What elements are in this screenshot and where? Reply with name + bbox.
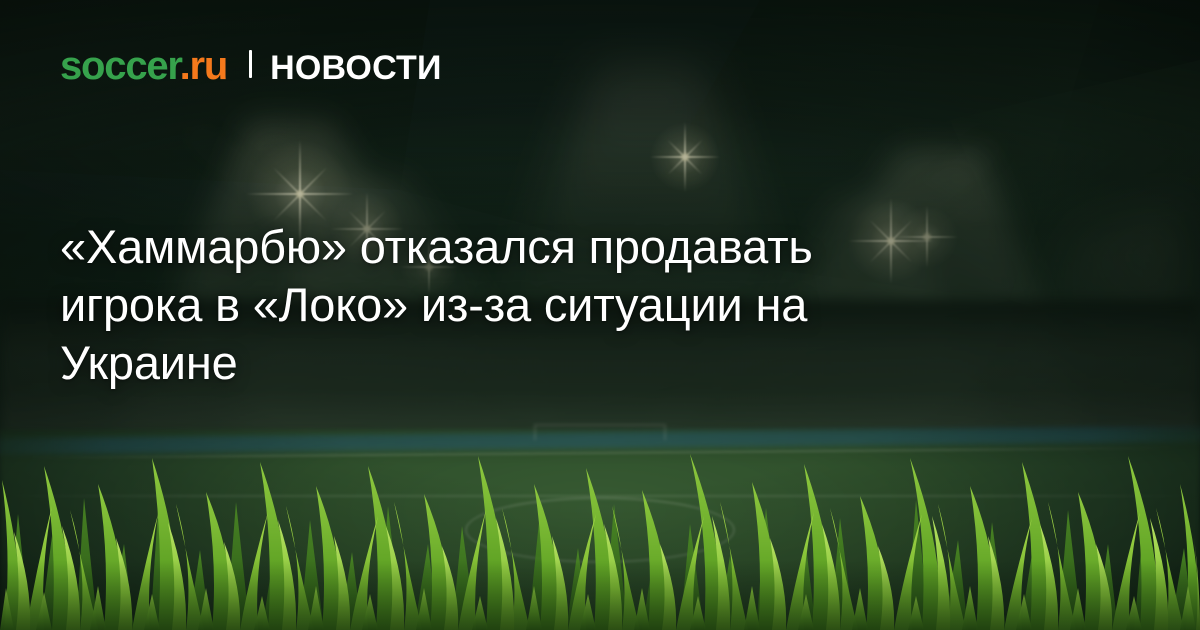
section-label: НОВОСТИ — [270, 51, 441, 85]
card-content: soccer.ru НОВОСТИ «Хаммарбю» отказался п… — [0, 0, 1200, 630]
logo-text-ru: ru — [190, 44, 228, 88]
brand-bar[interactable]: soccer.ru НОВОСТИ — [60, 46, 442, 86]
logo-dot: . — [180, 44, 190, 88]
news-share-card: soccer.ru НОВОСТИ «Хаммарбю» отказался п… — [0, 0, 1200, 630]
page-title: «Хаммарбю» отказался продавать игрока в … — [60, 218, 1080, 392]
site-logo[interactable]: soccer.ru — [60, 46, 227, 86]
logo-text-soccer: soccer — [60, 44, 180, 88]
headline-line-2: игрока в «Локо» из-за ситуации на — [60, 276, 1080, 334]
headline-line-3: Украине — [60, 334, 1080, 392]
headline-line-1: «Хаммарбю» отказался продавать — [60, 218, 1080, 276]
brand-separator — [249, 50, 252, 78]
